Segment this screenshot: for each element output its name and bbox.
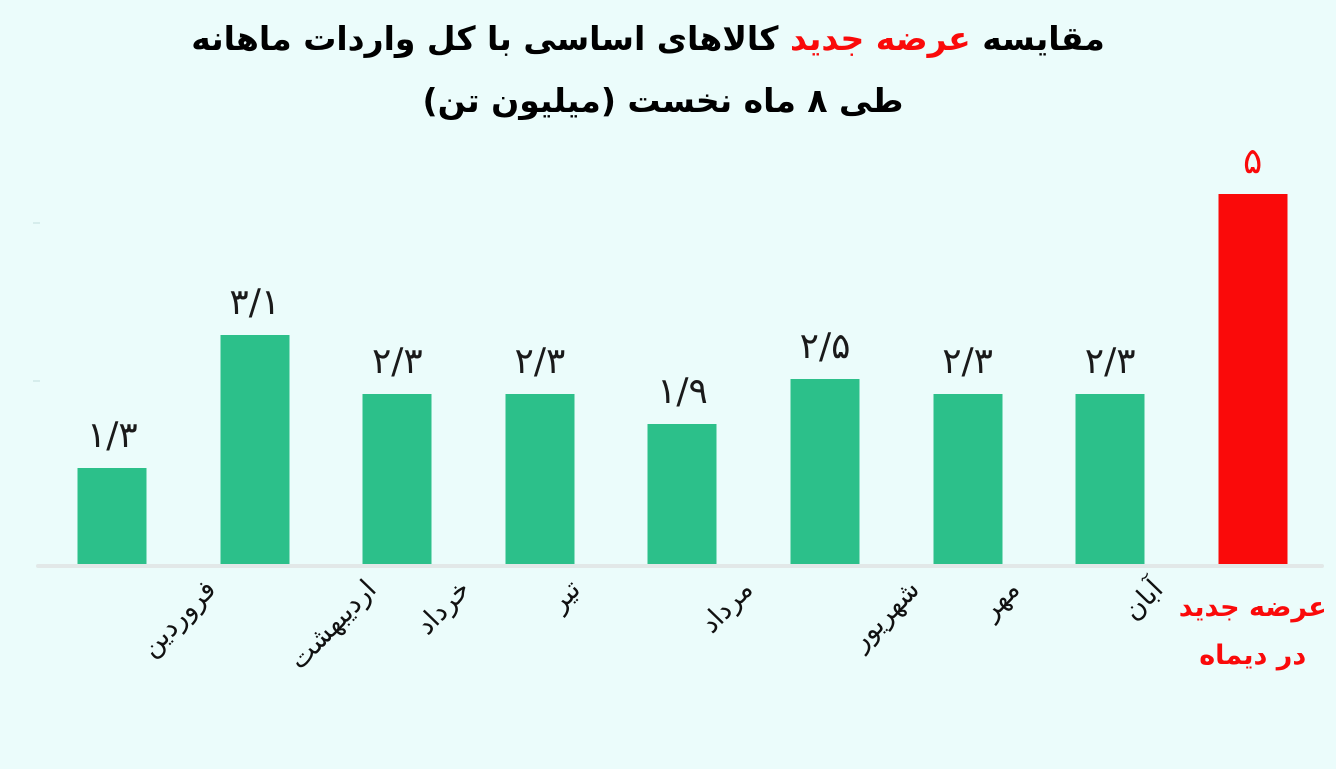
category-label-slot: آبان [1039,568,1182,748]
bar-highlight[interactable] [1218,194,1287,564]
bar-group[interactable]: ۲/۳ [896,150,1039,564]
x-axis-label: خرداد [411,574,477,641]
x-axis-label-line-1: عرضه جدید [1163,584,1336,632]
bar-value-label: ۲/۵ [800,326,851,367]
x-axis-label-highlight: عرضه جدیددر دیماه [1163,584,1336,680]
bar[interactable] [933,394,1002,564]
bar[interactable] [505,394,574,564]
bar[interactable] [791,379,860,564]
bar-value-label: ۳/۱ [229,282,280,323]
category-label-slot: تیر [469,568,612,748]
bars-layer: ۱/۳۳/۱۲/۳۲/۳۱/۹۲/۵۲/۳۲/۳۵ [0,150,1336,568]
category-label-slot: مهر [896,568,1039,748]
category-label-slot: شهریور [754,568,897,748]
bar-group[interactable]: ۵ [1181,150,1324,564]
chart-title-highlight: عرضه جدید [790,19,971,58]
bar-value-label: ۲/۳ [515,341,566,382]
bar-group[interactable]: ۲/۳ [469,150,612,564]
category-label-slot: اردیبهشت [184,568,327,748]
category-label-slot: خرداد [326,568,469,748]
x-axis-label: آبان [1117,574,1169,627]
bar-group[interactable]: ۲/۳ [1039,150,1182,564]
x-axis-label-line-2: در دیماه [1163,632,1336,680]
chart-root: مقایسه عرضه جدید کالاهای اساسی با کل وار… [0,0,1336,769]
bar-group[interactable]: ۲/۵ [754,150,897,564]
chart-title-line-2: طی ۸ ماه نخست (میلیون تن) [0,70,1336,132]
chart-title: مقایسه عرضه جدید کالاهای اساسی با کل وار… [0,8,1336,132]
bar-group[interactable]: ۲/۳ [326,150,469,564]
bar-value-label: ۵ [1243,141,1262,182]
category-label-slot: عرضه جدیددر دیماه [1181,568,1324,748]
bar[interactable] [363,394,432,564]
category-label-slot: مرداد [611,568,754,748]
x-axis-label: تیر [543,574,587,618]
bar-value-label: ۲/۳ [942,341,993,382]
bar[interactable] [648,424,717,564]
bar[interactable] [78,468,147,564]
bar-value-label: ۲/۳ [372,341,423,382]
bar[interactable] [1076,394,1145,564]
chart-title-line-1-after: کالاهای اساسی با کل واردات ماهانه [191,19,790,58]
bar-value-label: ۲/۳ [1085,341,1136,382]
bar-group[interactable]: ۱/۹ [611,150,754,564]
bar[interactable] [220,335,289,564]
bar-group[interactable]: ۱/۳ [41,150,184,564]
chart-title-line-1: مقایسه عرضه جدید کالاهای اساسی با کل وار… [0,8,1336,70]
chart-title-line-1-before: مقایسه [971,19,1105,58]
x-axis-label: مهر [974,574,1025,626]
bar-value-label: ۱/۳ [87,415,138,456]
plot-area: ۱/۳۳/۱۲/۳۲/۳۱/۹۲/۵۲/۳۲/۳۵ [0,150,1336,568]
category-label-slot: فروردین [41,568,184,748]
category-labels-layer: فروردیناردیبهشتخردادتیرمردادشهریورمهرآبا… [0,568,1336,768]
bar-value-label: ۱/۹ [657,371,708,412]
bar-group[interactable]: ۳/۱ [184,150,327,564]
x-axis-label: مرداد [695,574,760,639]
